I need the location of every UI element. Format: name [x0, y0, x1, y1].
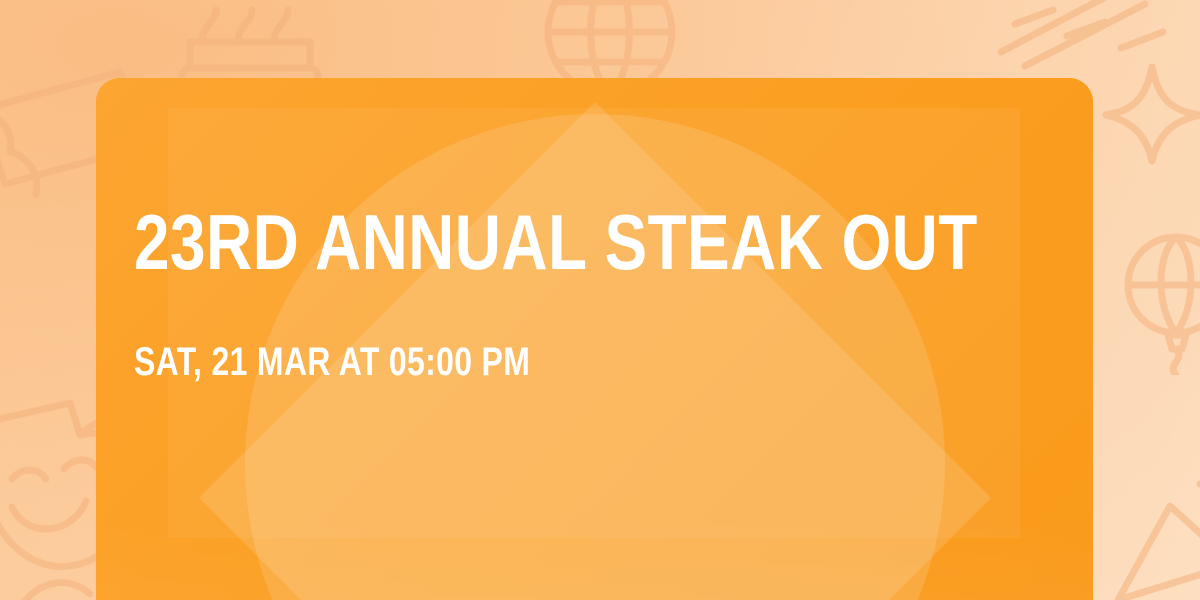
event-banner: 23RD ANNUAL STEAK OUT SAT, 21 MAR AT 05:… [0, 0, 1200, 600]
event-card[interactable]: 23RD ANNUAL STEAK OUT SAT, 21 MAR AT 05:… [96, 78, 1093, 600]
event-title: 23RD ANNUAL STEAK OUT [134, 203, 978, 281]
sparkle-icon [1098, 55, 1200, 170]
balloon-icon [1120, 225, 1200, 375]
event-datetime: SAT, 21 MAR AT 05:00 PM [134, 342, 530, 382]
party-popper-icon [1100, 460, 1200, 600]
card-bottom-wash [96, 518, 1093, 600]
